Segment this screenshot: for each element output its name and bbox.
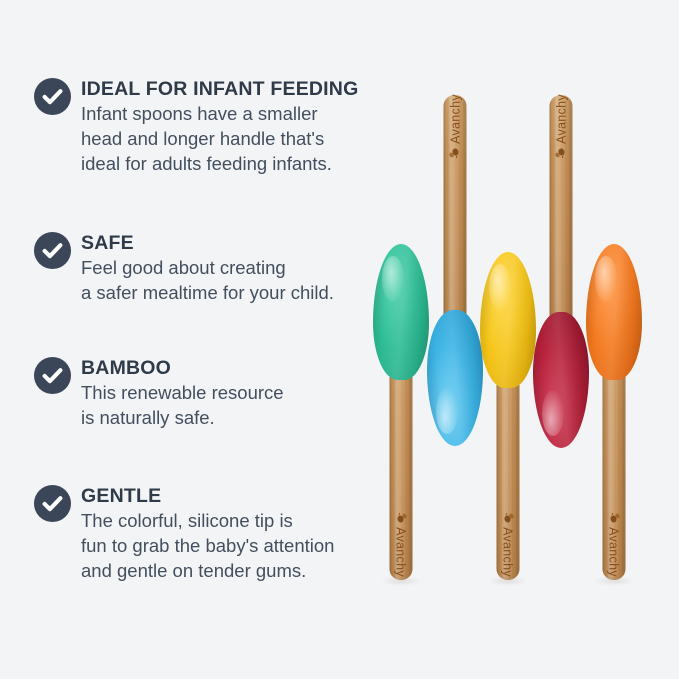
- drop-shadow: [488, 576, 528, 586]
- silicone-bowl: [373, 244, 429, 380]
- feature-item-safe: SAFE Feel good about creating a safer me…: [34, 232, 334, 306]
- feature-title: IDEAL FOR INFANT FEEDING: [81, 78, 358, 100]
- silicone-bowl: [533, 312, 589, 448]
- feature-text: GENTLE The colorful, silicone tip is fun…: [81, 485, 334, 583]
- silicone-bowl: [480, 252, 536, 388]
- feature-description: Infant spoons have a smaller head and lo…: [81, 102, 358, 176]
- feature-text: BAMBOO This renewable resource is natura…: [81, 357, 284, 431]
- feature-title: BAMBOO: [81, 357, 284, 379]
- feature-description: The colorful, silicone tip is fun to gra…: [81, 509, 334, 583]
- feature-description: Feel good about creating a safer mealtim…: [81, 256, 334, 305]
- feature-item-ideal-for-infant-feeding: IDEAL FOR INFANT FEEDING Infant spoons h…: [34, 78, 358, 176]
- check-circle-icon: [34, 357, 71, 394]
- drop-shadow: [594, 576, 634, 586]
- feature-item-bamboo: BAMBOO This renewable resource is natura…: [34, 357, 284, 431]
- silicone-bowl: [427, 310, 483, 446]
- check-circle-icon: [34, 232, 71, 269]
- feature-item-gentle: GENTLE The colorful, silicone tip is fun…: [34, 485, 334, 583]
- feature-text: SAFE Feel good about creating a safer me…: [81, 232, 334, 306]
- bamboo-handle: [550, 95, 573, 345]
- check-circle-icon: [34, 78, 71, 115]
- drop-shadow: [381, 576, 421, 586]
- feature-title: GENTLE: [81, 485, 334, 507]
- product-feature-infographic: IDEAL FOR INFANT FEEDING Infant spoons h…: [0, 0, 679, 679]
- bamboo-handle: [444, 95, 467, 345]
- spoon-orange: Avanchy: [582, 0, 646, 679]
- feature-text: IDEAL FOR INFANT FEEDING Infant spoons h…: [81, 78, 358, 176]
- check-circle-icon: [34, 485, 71, 522]
- feature-description: This renewable resource is naturally saf…: [81, 381, 284, 430]
- feature-list: IDEAL FOR INFANT FEEDING Infant spoons h…: [0, 0, 390, 679]
- silicone-bowl: [586, 244, 642, 380]
- feature-title: SAFE: [81, 232, 334, 254]
- product-image-spoon-set: Avanchy Avanchy: [355, 0, 679, 679]
